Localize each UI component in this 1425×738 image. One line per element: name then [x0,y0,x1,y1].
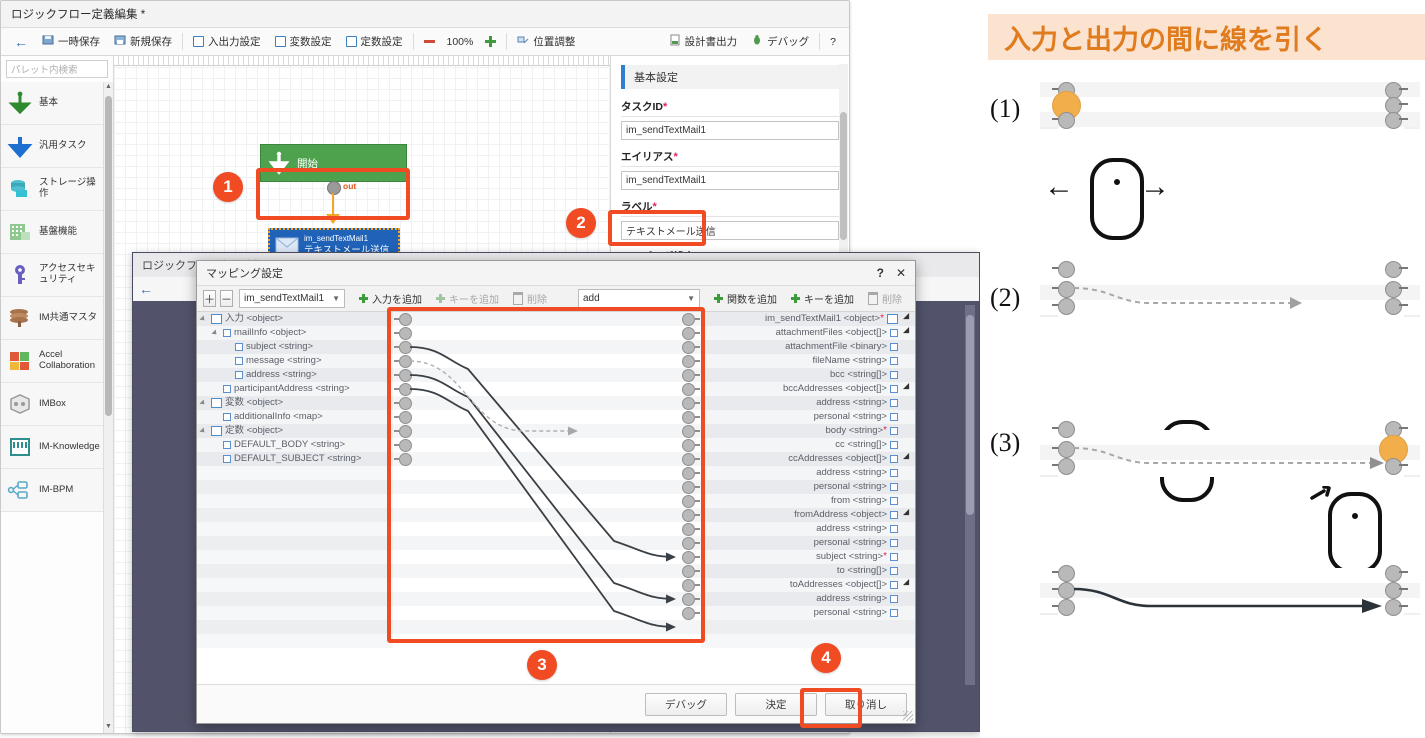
resize-grip[interactable] [903,711,913,721]
mapping-connection-line[interactable] [410,375,674,599]
node-icon [890,581,898,589]
position-adjust-icon [517,34,529,49]
palette-item-im-master[interactable]: IM共通マスタ [1,297,113,340]
node-icon [235,343,243,351]
debug-label: デバッグ [767,34,809,49]
target-tree-label: personal <string> [814,536,887,550]
pointer-icon[interactable]: ◤ [903,385,910,393]
add-input-button[interactable]: 入力を追加 [352,289,429,309]
target-tree-row[interactable]: ccAddresses <object[]>◤ [701,452,915,466]
required-marker: * [674,151,678,163]
constant-settings-label: 定数設定 [361,34,403,49]
toolbar-divider-2 [413,33,414,50]
step-2-illustration [1040,270,1420,317]
storage-cylinder-icon [6,175,34,203]
source-select[interactable]: im_sendTextMail1 ▼ [239,289,345,308]
palette-item-label: Accel Collaboration [39,350,103,372]
task-id-value: im_sendTextMail1 [626,125,706,136]
palette-item-accel-collaboration[interactable]: Accel Collaboration [1,340,113,383]
plus-icon [714,294,723,303]
node-icon [890,329,898,337]
source-tree-label: 入力 <object> [225,312,283,326]
bpm-nodes-icon [6,476,34,504]
palette-item-label: 基盤機能 [39,227,77,238]
node-icon [890,511,898,519]
palette-item-platform[interactable]: 基盤機能 [1,211,113,254]
source-tree-empty-row [197,494,393,508]
zoom-level: 100% [442,36,479,48]
node-icon [890,455,898,463]
target-tree-label: address <string> [816,522,887,536]
background-scroll-thumb[interactable] [966,315,974,515]
target-tree-row[interactable]: address <string> [701,466,915,480]
pointer-icon[interactable]: ◤ [903,455,910,463]
plus-icon [791,294,800,303]
zoom-out-button[interactable] [417,31,442,53]
field-label-row: ラベル* テキストメール送信 [621,196,839,240]
port-stem [1399,267,1408,269]
strip-row [1040,112,1420,127]
source-select-value: im_sendTextMail1 [244,293,324,304]
result-illustration [1040,568,1420,615]
instruction-panel: 入力と出力の間に線を引く (1) ← → (2) [980,0,1425,738]
field-label: エイリアス* [621,146,839,167]
source-tree[interactable]: 入力 <object>mailInfo <object>subject <str… [197,312,393,684]
flow-node-start[interactable]: 開始 [260,144,407,182]
target-tree-label: ccAddresses <object[]> [788,452,887,466]
palette-item-label: ストレージ操作 [39,178,103,200]
variable-settings-button[interactable]: 変数設定 [268,31,339,53]
target-tree-row[interactable]: body <string>* [701,424,915,438]
target-tree-row[interactable]: bcc <string[]> [701,368,915,382]
target-tree-label: to <string[]> [837,564,887,578]
source-tree-empty-row [197,620,393,634]
source-tree-empty-row [197,578,393,592]
target-port[interactable] [1385,112,1402,129]
palette-item-label: IM共通マスタ [39,313,97,324]
source-port[interactable] [1058,112,1075,129]
pointer-icon[interactable]: ◤ [903,511,910,519]
step-1-illustration [1040,82,1420,129]
palette-item-label: 基本 [39,98,58,109]
port-stem [1399,427,1408,429]
delete-left-button[interactable]: 削除 [506,289,554,309]
toolbar-divider-3 [506,33,507,50]
target-tree-row[interactable]: subject <string>* [701,550,915,564]
source-tree-row[interactable]: mailInfo <object> [197,326,393,340]
node-icon [890,357,898,365]
tree-expand-icon[interactable] [199,399,206,406]
field-alias: エイリアス* im_sendTextMail1 [621,146,839,190]
help-icon[interactable]: ? [877,266,884,280]
target-tree-label: im_sendTextMail1 <object> [765,312,880,326]
chevron-down-icon: ▼ [687,294,695,303]
node-icon [890,469,898,477]
source-tree-row[interactable]: 入力 <object> [197,312,393,326]
tree-expand-icon[interactable] [199,427,206,434]
target-tree-row[interactable]: address <string> [701,592,915,606]
green-grid-icon [6,218,34,246]
node-icon [890,567,898,575]
target-tree-label: attachmentFiles <object[]> [776,326,887,340]
source-tree-label: 変数 <object> [225,396,283,410]
mapping-connection-arrowhead [568,427,578,436]
add-key-left-button[interactable]: キーを追加 [429,289,506,309]
debug-bug-icon [751,34,763,49]
target-tree-row[interactable]: from <string> [701,494,915,508]
target-tree-empty-row [701,634,915,648]
palette-item-basic[interactable]: 基本 [1,82,113,125]
source-tree-empty-row [197,466,393,480]
mapping-canvas[interactable] [393,312,701,684]
node-icon [890,343,898,351]
plus-icon [485,36,496,47]
add-key-right-button[interactable]: キーを追加 [784,289,861,309]
add-key-right-label: キーを追加 [804,291,854,306]
node-icon [223,385,231,393]
back-arrow-icon: ← [14,35,28,49]
add-function-button[interactable]: 関数を追加 [707,289,784,309]
trash-icon [868,292,878,305]
alias-value: im_sendTextMail1 [626,175,706,186]
source-tree-label: DEFAULT_BODY <string> [234,438,345,452]
target-tree-label: attachmentFile <binary> [785,340,887,354]
tree-expand-icon[interactable] [211,329,218,336]
constant-settings-button[interactable]: 定数設定 [339,31,410,53]
palette-list: 基本 汎用タスク ストレージ操作 [1,82,113,734]
target-tree-label: bccAddresses <object[]> [783,382,887,396]
target-tree-label: personal <string> [814,606,887,620]
palette-sidebar: パレット内検索 基本 汎用タスク [1,56,114,734]
source-tree-label: mailInfo <object> [234,326,306,340]
click-spark-icon [1310,486,1338,512]
target-tree-row[interactable]: personal <string> [701,536,915,550]
source-tree-empty-row [197,480,393,494]
properties-section-title: 基本設定 [621,65,839,89]
step-3-number: (3) [990,428,1020,458]
io-settings-button[interactable]: 入出力設定 [186,31,268,53]
collab-squares-icon [6,347,34,375]
target-tree-row[interactable]: personal <string> [701,480,915,494]
alias-input[interactable]: im_sendTextMail1 [621,171,839,190]
folder-icon [211,426,222,436]
new-save-button[interactable]: 新規保存 [107,31,179,53]
target-tree[interactable]: im_sendTextMail1 <object>*◤attachmentFil… [701,312,915,684]
palette-item-label: IM-Knowledge [39,442,100,453]
variable-settings-icon [275,36,286,47]
instruction-title: 入力と出力の間に線を引く [988,14,1425,60]
source-tree-label: address <string> [246,368,317,382]
delete-left-label: 削除 [527,291,547,306]
help-button[interactable]: ? [823,31,843,53]
callout-badge-2: 2 [566,208,596,238]
target-tree-row[interactable]: attachmentFiles <object[]>◤ [701,326,915,340]
node-icon [223,329,231,337]
pointer-icon[interactable]: ◤ [903,315,910,323]
position-adjust-button[interactable]: 位置調整 [510,31,582,53]
target-tree-row[interactable]: cc <string[]> [701,438,915,452]
node-icon [890,483,898,491]
result-connection-line [1040,568,1420,615]
palette-item-storage[interactable]: ストレージ操作 [1,168,113,211]
target-tree-label: subject <string> [816,550,883,564]
add-input-label: 入力を追加 [372,291,422,306]
callout-badge-1: 1 [213,172,243,202]
zoom-in-button[interactable] [478,31,503,53]
palette-item-label: IMBox [39,399,66,410]
io-settings-label: 入出力設定 [208,34,261,49]
target-tree-empty-row [701,620,915,634]
palette-search-input[interactable]: パレット内検索 [6,60,108,78]
target-tree-label: fileName <string> [813,354,887,368]
mouse-dot [1352,513,1358,519]
strip-row [1040,82,1420,97]
window-title: ロジックフロー定義編集 * [11,6,145,22]
palette-item-imbox[interactable]: IMBox [1,383,113,426]
source-tree-row[interactable]: DEFAULT_SUBJECT <string> [197,452,393,466]
required-marker: * [883,428,887,434]
ok-button[interactable]: 決定 [735,693,817,716]
io-settings-icon [193,36,204,47]
toolbar-divider [182,33,183,50]
new-save-label: 新規保存 [130,34,172,49]
node-icon [890,525,898,533]
folder-icon [211,398,222,408]
palette-scroll-up-icon[interactable]: ▲ [104,83,113,94]
mapping-connection-layer [393,312,701,658]
canvas-ruler [114,56,610,66]
palette-item-label: IM-BPM [39,485,73,496]
folder-icon [887,314,898,324]
port-stem [1399,88,1408,90]
palette-scroll-thumb[interactable] [105,96,112,416]
box-icon [6,390,34,418]
field-label-text: エイリアス [621,151,674,163]
target-tree-label: address <string> [816,466,887,480]
node-icon [890,399,898,407]
mouse-dot [1114,179,1120,185]
step-3-drag-line [1040,430,1420,477]
source-tree-empty-row [197,522,393,536]
mouse-icon-step-1 [1090,158,1144,240]
expand-all-button[interactable]: ＋ [203,290,216,307]
trash-icon [513,292,523,305]
mapping-connection-line[interactable] [410,347,674,557]
start-out-port[interactable] [327,181,341,195]
document-export-button[interactable]: 設計書出力 [662,31,745,53]
node-icon [223,441,231,449]
green-anchor-icon [6,89,34,117]
add-key-left-label: キーを追加 [449,291,499,306]
debug-button[interactable]: デバッグ [744,31,816,53]
plus-icon [436,294,445,303]
start-node-label: 開始 [297,156,318,171]
close-icon[interactable]: ✕ [896,266,906,280]
source-tree-empty-row [197,592,393,606]
add-function-label: 関数を追加 [727,291,777,306]
help-label: ? [830,36,836,48]
source-tree-row[interactable]: subject <string> [197,340,393,354]
step-2-drag-line [1040,270,1420,317]
source-tree-row[interactable]: message <string> [197,354,393,368]
target-tree-label: cc <string[]> [835,438,887,452]
mapping-connection-arrowhead [666,595,676,604]
key-icon [6,261,34,289]
document-export-icon [669,34,681,49]
source-tree-row[interactable]: 定数 <object> [197,424,393,438]
source-tree-label: 定数 <object> [225,424,283,438]
target-tree-label: toAddresses <object[]> [790,578,887,592]
node-icon [890,441,898,449]
required-marker: * [653,201,657,213]
step-1-number: (1) [990,94,1020,124]
collapse-all-button[interactable]: － [220,290,233,307]
port-stem [1399,103,1408,105]
palette-item-im-knowledge[interactable]: IM-Knowledge [1,426,113,469]
label-input[interactable]: テキストメール送信 [621,221,839,240]
debug-button[interactable]: デバッグ [645,693,727,716]
node-icon [890,609,898,617]
field-label-text: タスクID [621,101,663,113]
field-label-text: ラベル [621,201,653,213]
target-tree-row[interactable]: attachmentFile <binary> [701,340,915,354]
window-titlebar: ロジックフロー定義編集 * [1,1,849,28]
node-icon [890,385,898,393]
source-tree-row[interactable]: DEFAULT_BODY <string> [197,438,393,452]
node-icon [890,371,898,379]
node-icon [235,371,243,379]
target-tree-label: from <string> [831,494,887,508]
left-arrow-icon: ← [1044,170,1074,204]
tree-expand-icon[interactable] [199,315,206,322]
target-tree-row[interactable]: fromAddress <object>◤ [701,508,915,522]
target-tree-row[interactable]: bccAddresses <object[]>◤ [701,382,915,396]
minus-icon [424,40,435,43]
node-icon [890,539,898,547]
temp-save-label: 一時保存 [58,34,100,49]
pointer-icon[interactable]: ◤ [903,581,910,589]
flow-connector-1-arrow [326,214,340,224]
target-tree-row[interactable]: fileName <string> [701,354,915,368]
pointer-icon[interactable]: ◤ [903,329,910,337]
target-tree-row[interactable]: address <string> [701,396,915,410]
temp-save-button[interactable]: 一時保存 [35,31,107,53]
dialog-footer: デバッグ 決定 取り消し [197,684,915,723]
target-tree-row[interactable]: toAddresses <object[]>◤ [701,578,915,592]
node-icon [223,455,231,463]
palette-search-placeholder: パレット内検索 [11,62,78,76]
palette-item-access-security[interactable]: アクセスセキュリティ [1,254,113,297]
source-tree-label: subject <string> [246,340,313,354]
node-icon [890,595,898,603]
cancel-button[interactable]: 取り消し [825,693,907,716]
constant-settings-icon [346,36,357,47]
step-3-illustration [1040,430,1420,477]
node-icon [223,413,231,421]
source-tree-empty-row [197,606,393,620]
palette-scrollbar[interactable]: ▲ ▼ [103,82,113,734]
position-adjust-label: 位置調整 [533,34,575,49]
document-export-label: 設計書出力 [685,34,738,49]
folder-icon [211,314,222,324]
source-tree-row[interactable]: address <string> [197,368,393,382]
target-tree-label: personal <string> [814,480,887,494]
source-tree-label: DEFAULT_SUBJECT <string> [234,452,361,466]
node-icon [890,497,898,505]
mapping-connection-arrowhead [666,553,676,562]
node-icon [890,427,898,435]
source-tree-row[interactable]: participantAddress <string> [197,382,393,396]
required-marker: * [880,316,884,322]
screenshot-root: ロジックフロー定義編集 * ← 一時保存 新規保存 入出力設定 [0,0,1425,738]
source-tree-label: additionalInfo <map> [234,410,323,424]
palette-item-generic-task[interactable]: 汎用タスク [1,125,113,168]
source-tree-empty-row [197,564,393,578]
source-tree-row[interactable]: additionalInfo <map> [197,410,393,424]
callout-badge-3: 3 [527,650,557,680]
mapping-connection-arrowhead [666,623,676,632]
task-id-input[interactable]: im_sendTextMail1 [621,121,839,140]
target-tree-label: personal <string> [814,410,887,424]
delete-right-label: 削除 [882,291,902,306]
back-button[interactable]: ← [7,31,35,53]
background-window-scrollbar[interactable] [965,305,975,685]
mapping-settings-dialog: マッピング設定 ? ✕ ＋ － im_sendTextMail1 ▼ 入力を追加… [196,260,916,724]
palette-item-label: 汎用タスク [39,141,87,152]
required-marker: * [883,554,887,560]
target-tree-row[interactable]: personal <string> [701,410,915,424]
palette-item-im-bpm[interactable]: IM-BPM [1,469,113,512]
target-tree-row[interactable]: im_sendTextMail1 <object>*◤ [701,312,915,326]
delete-right-button[interactable]: 削除 [861,289,909,309]
source-tree-empty-row [197,508,393,522]
properties-scroll-thumb[interactable] [840,112,847,240]
target-tree-label: address <string> [816,396,887,410]
function-select[interactable]: add ▼ [578,289,700,308]
out-port-label: out [343,181,356,191]
target-tree-row[interactable]: personal <string> [701,606,915,620]
target-tree-row[interactable]: to <string[]> [701,564,915,578]
dialog-body: 入力 <object>mailInfo <object>subject <str… [197,312,915,684]
book-icon [6,433,34,461]
field-task-id: タスクID* im_sendTextMail1 [621,96,839,140]
source-tree-empty-row [197,634,393,648]
dialog-titlebar: マッピング設定 ? ✕ [197,261,915,286]
source-tree-empty-row [197,550,393,564]
source-tree-row[interactable]: 変数 <object> [197,396,393,410]
task-node-id: im_sendTextMail1 [304,234,389,245]
target-tree-row[interactable]: address <string> [701,522,915,536]
variable-settings-label: 変数設定 [290,34,332,49]
chevron-down-icon: ▼ [332,294,340,303]
back-arrow-icon[interactable]: ← [139,282,153,296]
field-label: タスクID* [621,96,839,117]
node-icon [890,413,898,421]
database-stack-icon [6,304,34,332]
dialog-title: マッピング設定 [206,265,283,281]
strip-row [1040,97,1420,112]
start-down-arrow-icon [261,150,297,176]
blue-anchor-icon [6,132,34,160]
callout-badge-4: 4 [811,643,841,673]
toolbar-divider-4 [819,33,820,50]
function-select-value: add [583,293,600,304]
palette-scroll-down-icon[interactable]: ▼ [104,723,113,734]
source-tree-empty-row [197,536,393,550]
node-icon [890,553,898,561]
target-tree-label: fromAddress <object> [794,508,887,522]
main-toolbar: ← 一時保存 新規保存 入出力設定 変数設定 [1,28,849,56]
